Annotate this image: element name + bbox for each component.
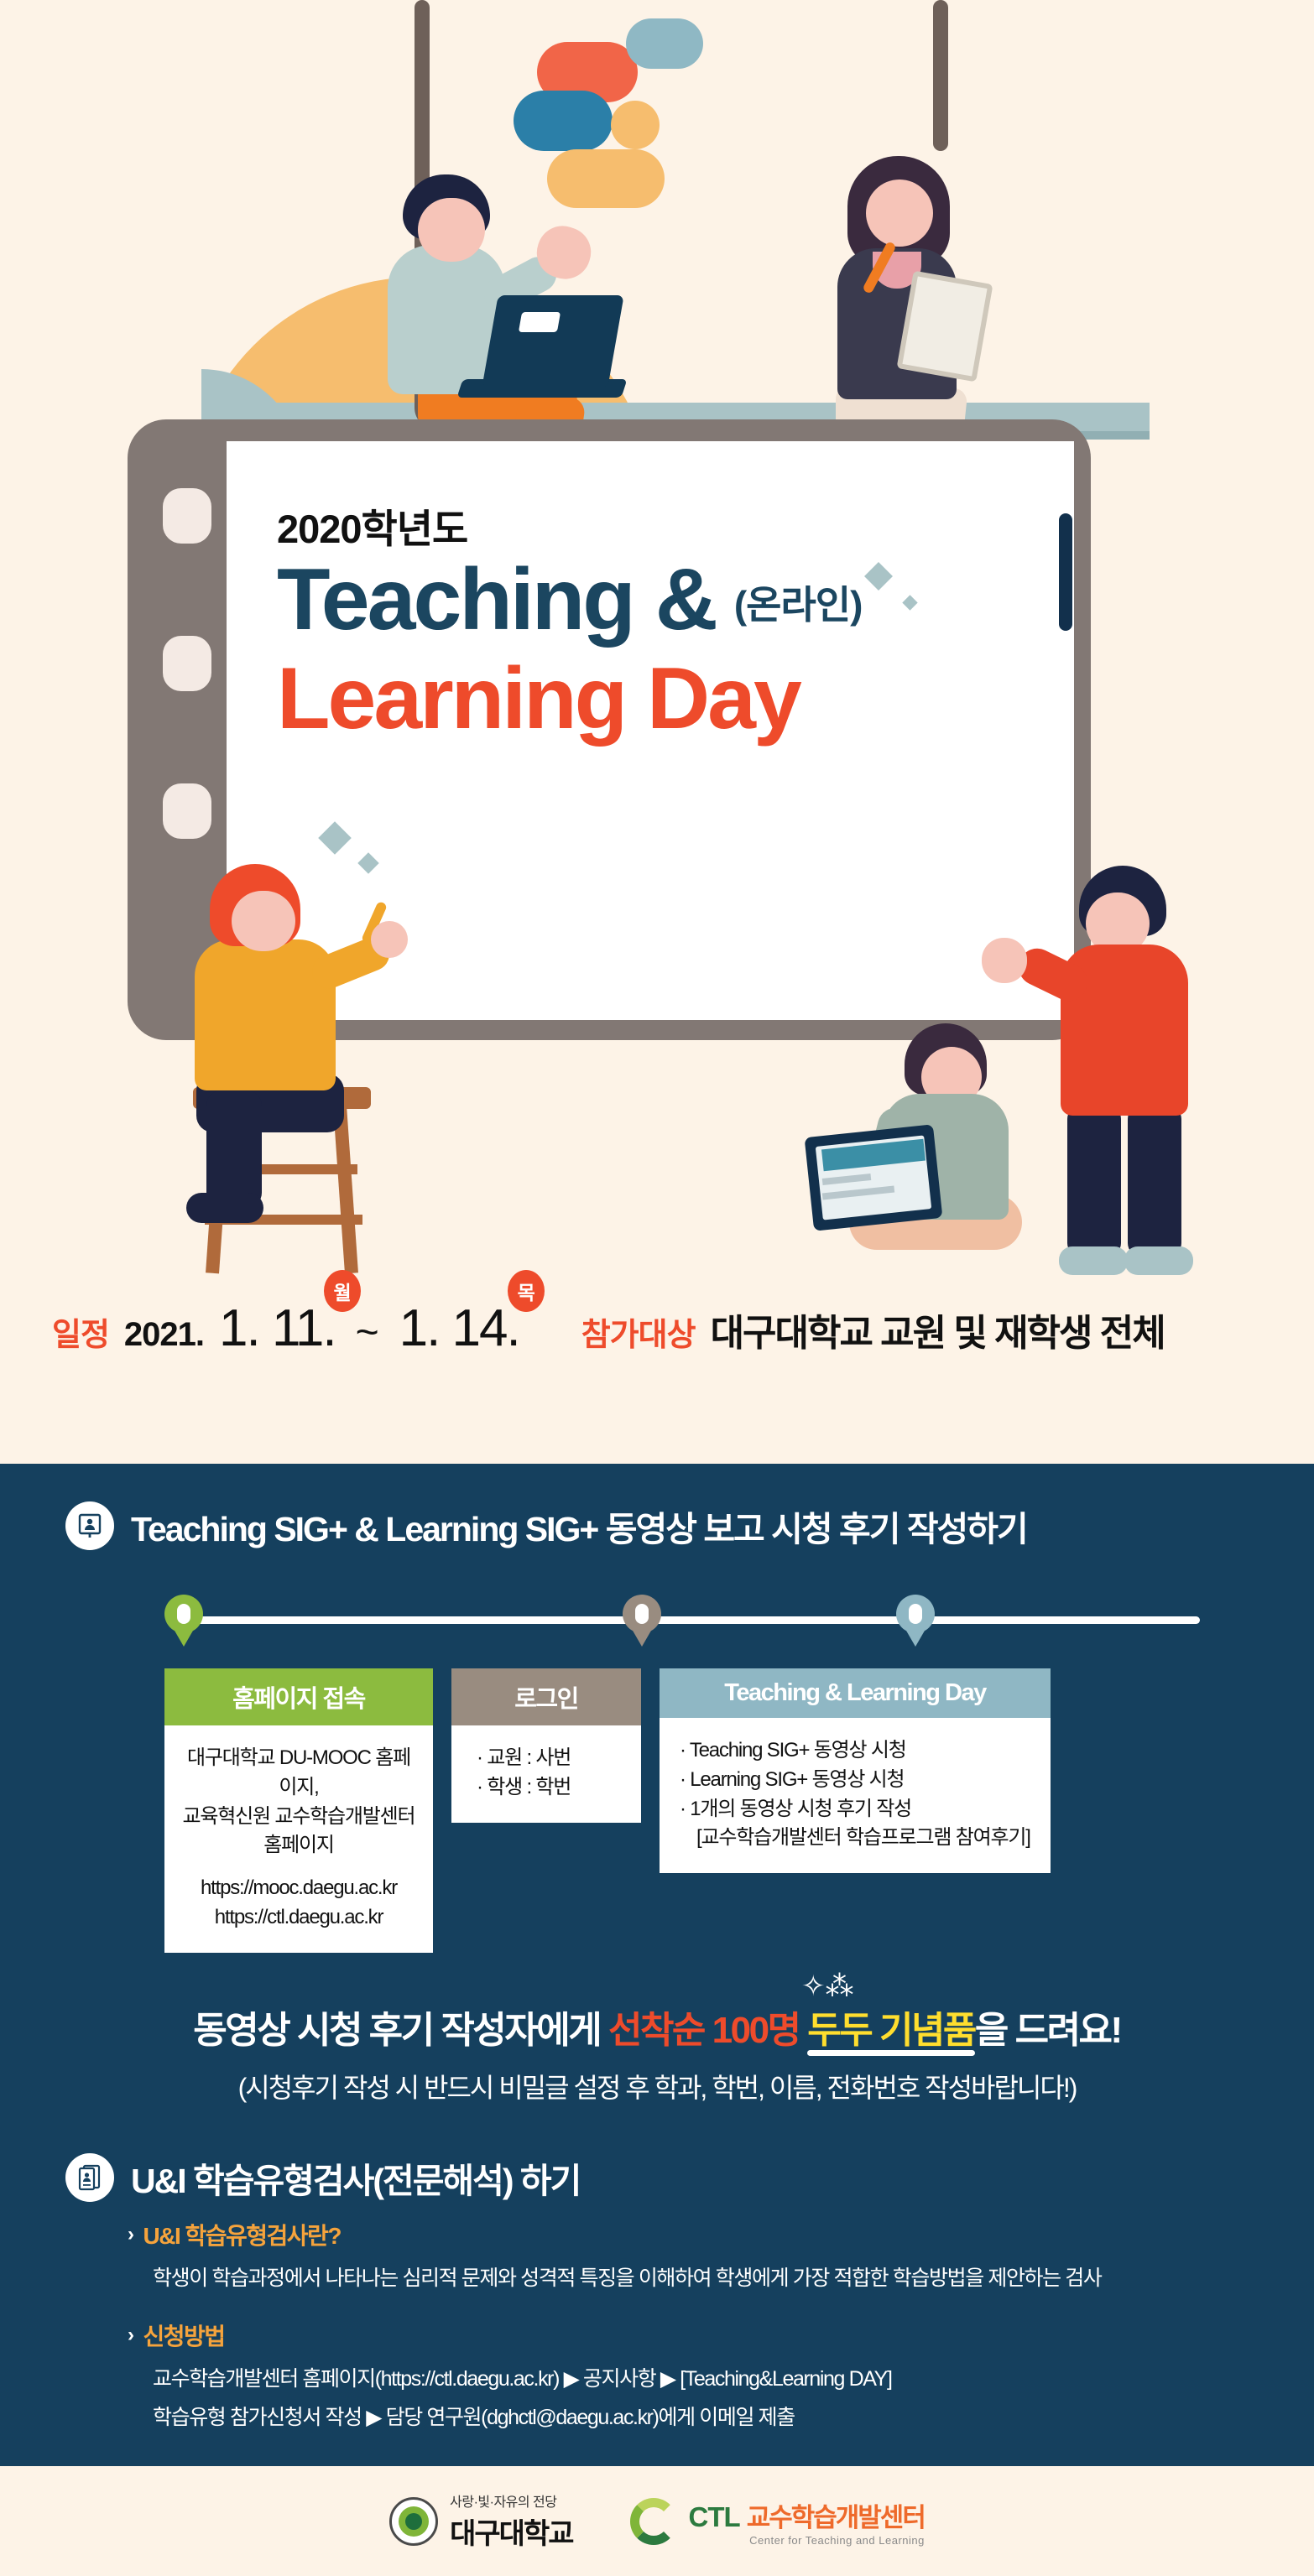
ui-question-row: › U&I 학습유형검사란? xyxy=(128,2218,1314,2251)
step-card-tlday: Teaching & Learning Day · Teaching SIG+ … xyxy=(660,1668,1051,1873)
title-line-teaching: Teaching & xyxy=(277,556,716,643)
academic-year-label: 2020학년도 xyxy=(277,507,1032,551)
chevron-right-icon: › xyxy=(128,2324,133,2347)
step-line: · 학생 : 학번 xyxy=(477,1773,626,1803)
promo-headline: 동영상 시청 후기 작성자에게 선착순 100명 두두 기념품을 드려요! xyxy=(0,2000,1314,2053)
footer-logos: 사랑·빛·자유의 전당 대구대학교 CTL 교수학습개발센터 Center fo… xyxy=(0,2466,1314,2576)
chevron-right-icon: › xyxy=(128,2223,133,2246)
steps-timeline xyxy=(0,1585,1314,1668)
dark-content-section: Teaching SIG+ & Learning SIG+ 동영상 보고 시청 … xyxy=(0,1464,1314,2466)
speech-bubble-icon xyxy=(547,149,665,208)
date-end: 1. 14. 목 xyxy=(399,1298,519,1358)
hanging-rod xyxy=(933,0,948,151)
promo-subnote: (시청후기 작성 시 반드시 비밀글 설정 후 학과, 학번, 이름, 전화번호… xyxy=(0,2067,1314,2105)
daegu-university-emblem-icon xyxy=(389,2497,438,2546)
step-line: · 1개의 동영상 시청 후기 작성 xyxy=(680,1795,1035,1824)
daegu-university-logo: 사랑·빛·자유의 전당 대구대학교 xyxy=(389,2490,572,2552)
step-line: 교육혁신원 교수학습개발센터 홈페이지 xyxy=(180,1803,418,1861)
ui-item-definition: › U&I 학습유형검사란? 학생이 학습과정에서 나타나는 심리적 문제와 성… xyxy=(128,2218,1314,2295)
date-year: 2021. xyxy=(124,1316,204,1354)
ui-howto-line2: 학습유형 참가신청서 작성 ▶ 담당 연구원(dghctl@daegu.ac.k… xyxy=(128,2401,1314,2434)
presentation-board-icon xyxy=(65,1501,114,1550)
speech-bubble-icon xyxy=(611,101,660,149)
event-meta-bar: 일정 2021. 1. 11. 월 ~ 1. 14. 목 참가대상 대구대학교 … xyxy=(0,1298,1314,1391)
timeline-line xyxy=(175,1616,1200,1624)
speech-bubble-icon xyxy=(514,91,613,151)
mooc-link[interactable]: https://mooc.daegu.ac.kr xyxy=(180,1874,418,1903)
university-slogan: 사랑·빛·자유의 전당 xyxy=(450,2490,572,2511)
target-value: 대구대학교 교원 및 재학생 전체 xyxy=(711,1303,1165,1356)
speech-bubble-icon xyxy=(626,18,703,69)
hero-illustration: 2020학년도 Teaching & (온라인) Learning Day xyxy=(0,0,1314,1464)
ui-question-label: U&I 학습유형검사란? xyxy=(143,2218,341,2251)
date-label: 일정 xyxy=(52,1309,109,1355)
promo-text-a: 동영상 시청 후기 작성자에게 xyxy=(193,2010,608,2051)
promo-highlight-gift: 두두 기념품 xyxy=(807,2010,975,2051)
section2-title: U&I 학습유형검사(전문해석) 하기 xyxy=(131,2152,580,2203)
ctl-abbreviation: CTL xyxy=(689,2501,740,2533)
step-card-header: Teaching & Learning Day xyxy=(660,1668,1051,1718)
start-weekday-badge: 월 xyxy=(324,1270,361,1312)
end-weekday-badge: 목 xyxy=(508,1270,545,1312)
timeline-pin-3 xyxy=(896,1595,935,1657)
step-line: 대구대학교 DU-MOOC 홈페이지, xyxy=(180,1744,418,1803)
id-card-document-icon xyxy=(65,2153,114,2202)
section1-header: Teaching SIG+ & Learning SIG+ 동영상 보고 시청 … xyxy=(0,1464,1314,1551)
target-label: 참가대상 xyxy=(581,1309,696,1355)
ui-question-row: › 신청방법 xyxy=(128,2318,1314,2352)
ui-howto-label: 신청방법 xyxy=(143,2318,225,2352)
ui-info-list: › U&I 학습유형검사란? 학생이 학습과정에서 나타나는 심리적 문제와 성… xyxy=(0,2218,1314,2434)
date-start: 1. 11. 월 xyxy=(219,1298,336,1358)
ctl-name: 교수학습개발센터 xyxy=(747,2496,925,2534)
tablet-side-button xyxy=(1059,513,1072,631)
title-line-learning-day: Learning Day xyxy=(277,655,1032,742)
poster-root: 2020학년도 Teaching & (온라인) Learning Day xyxy=(0,0,1314,2576)
ui-item-howto: › 신청방법 교수학습개발센터 홈페이지(https://ctl.daegu.a… xyxy=(128,2318,1314,2434)
step-line: · Teaching SIG+ 동영상 시청 xyxy=(680,1736,1035,1766)
date-range-tilde: ~ xyxy=(351,1309,384,1356)
step-card-header: 홈페이지 접속 xyxy=(164,1668,433,1725)
step-card-body: · Teaching SIG+ 동영상 시청 · Learning SIG+ 동… xyxy=(660,1718,1051,1873)
step-line-note: [교수학습개발센터 학습프로그램 참여후기] xyxy=(680,1824,1035,1853)
ui-detail-text: 학생이 학습과정에서 나타나는 심리적 문제와 성격적 특징을 이해하여 학생에… xyxy=(128,2261,1314,2295)
step-card-body: · 교원 : 사번 · 학생 : 학번 xyxy=(451,1725,641,1823)
ctl-logo: CTL 교수학습개발센터 Center for Teaching and Lea… xyxy=(630,2496,925,2547)
promo-text-b xyxy=(800,2010,808,2051)
steps-cards: 홈페이지 접속 대구대학교 DU-MOOC 홈페이지, 교육혁신원 교수학습개발… xyxy=(0,1668,1314,1953)
ctl-english-name: Center for Teaching and Learning xyxy=(689,2534,925,2547)
university-name: 대구대학교 xyxy=(450,2511,572,2552)
step-card-login: 로그인 · 교원 : 사번 · 학생 : 학번 xyxy=(451,1668,641,1823)
ctl-ring-icon xyxy=(630,2498,677,2545)
step-card-body: 대구대학교 DU-MOOC 홈페이지, 교육혁신원 교수학습개발센터 홈페이지 … xyxy=(164,1725,433,1953)
promo-text-c: 을 드려요! xyxy=(975,2010,1121,2051)
ctl-link[interactable]: https://ctl.daegu.ac.kr xyxy=(180,1903,418,1933)
poster-title-block: 2020학년도 Teaching & (온라인) Learning Day xyxy=(277,507,1032,742)
sparkle-icon: ✧⁂ xyxy=(801,1970,854,2003)
ui-howto-line1: 교수학습개발센터 홈페이지(https://ctl.daegu.ac.kr) ▶… xyxy=(128,2362,1314,2396)
section2-header: U&I 학습유형검사(전문해석) 하기 xyxy=(0,2105,1314,2203)
section1-title: Teaching SIG+ & Learning SIG+ 동영상 보고 시청 … xyxy=(131,1501,1027,1551)
step-line: · Learning SIG+ 동영상 시청 xyxy=(680,1766,1035,1795)
step-card-homepage: 홈페이지 접속 대구대학교 DU-MOOC 홈페이지, 교육혁신원 교수학습개발… xyxy=(164,1668,433,1953)
title-online-tag: (온라인) xyxy=(734,575,863,643)
promo-block: ✧⁂ 동영상 시청 후기 작성자에게 선착순 100명 두두 기념품을 드려요!… xyxy=(0,2000,1314,2105)
timeline-pin-1 xyxy=(164,1595,203,1657)
promo-highlight-count: 선착순 100명 xyxy=(608,2010,800,2051)
timeline-pin-2 xyxy=(623,1595,661,1657)
step-line: · 교원 : 사번 xyxy=(477,1744,626,1773)
step-card-header: 로그인 xyxy=(451,1668,641,1725)
